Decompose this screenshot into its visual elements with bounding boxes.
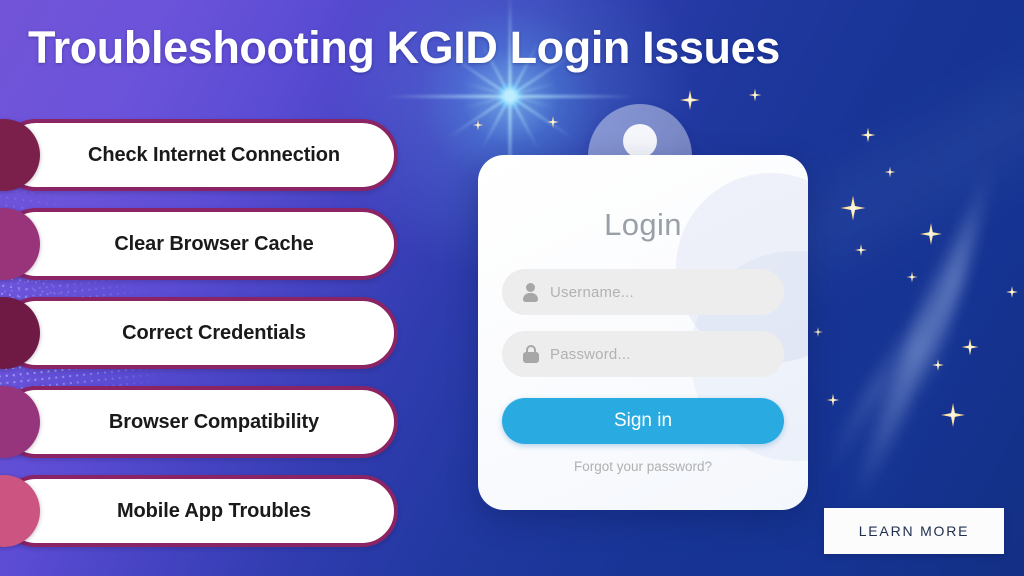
checklist-item[interactable]: Clear Browser Cache — [0, 208, 398, 280]
sparkle-icon — [885, 167, 896, 178]
sparkle-icon — [813, 327, 823, 337]
checklist-bullet-icon — [0, 297, 40, 369]
sparkle-icon — [547, 116, 559, 128]
page-title: Troubleshooting KGID Login Issues — [28, 22, 993, 74]
lock-icon — [522, 344, 540, 364]
light-streak-3 — [819, 300, 931, 480]
sparkle-icon — [907, 272, 918, 283]
username-placeholder: Username... — [550, 284, 634, 301]
flare-ray — [385, 95, 635, 98]
poster-canvas: Troubleshooting KGID Login Issues Check … — [0, 0, 1024, 576]
person-icon — [522, 282, 540, 302]
sparkle-icon — [841, 196, 866, 221]
checklist-bullet-icon — [0, 386, 40, 458]
forgot-password-link[interactable]: Forgot your password? — [502, 459, 784, 474]
checklist-item-label: Check Internet Connection — [4, 144, 394, 167]
learn-more-button[interactable]: LEARN MORE — [824, 508, 1004, 554]
checklist-item[interactable]: Browser Compatibility — [0, 386, 398, 458]
light-streak-1 — [844, 192, 992, 508]
login-heading: Login — [502, 207, 784, 243]
password-placeholder: Password... — [550, 346, 631, 363]
checklist-item[interactable]: Correct Credentials — [0, 297, 398, 369]
sparkle-icon — [920, 223, 942, 245]
sparkle-icon — [932, 359, 944, 371]
checklist-item-label: Browser Compatibility — [4, 411, 394, 434]
sparkle-icon — [855, 244, 867, 256]
checklist-item-label: Mobile App Troubles — [4, 500, 394, 523]
flare-ray — [463, 83, 556, 109]
sparkle-icon — [962, 339, 979, 356]
checklist-item-label: Correct Credentials — [4, 322, 394, 345]
avatar-head-icon — [623, 124, 657, 158]
sparkle-icon — [1006, 286, 1018, 298]
sparkle-icon — [473, 120, 484, 131]
password-field[interactable]: Password... — [502, 331, 784, 377]
sparkle-icon — [861, 128, 876, 143]
username-field[interactable]: Username... — [502, 269, 784, 315]
checklist-bullet-icon — [0, 475, 40, 547]
login-card: Login Username... Password... Sign in Fo… — [478, 155, 808, 510]
checklist-item[interactable]: Check Internet Connection — [0, 119, 398, 191]
sparkle-icon — [680, 90, 700, 110]
checklist-item[interactable]: Mobile App Troubles — [0, 475, 398, 547]
sparkle-icon — [941, 403, 965, 427]
checklist-bullet-icon — [0, 119, 40, 191]
sign-in-button[interactable]: Sign in — [502, 398, 784, 444]
checklist-bullet-icon — [0, 208, 40, 280]
sparkle-icon — [827, 394, 840, 407]
checklist-item-label: Clear Browser Cache — [4, 233, 394, 256]
light-streak-2 — [912, 153, 999, 407]
sparkle-icon — [749, 89, 762, 102]
flare-ray — [463, 83, 556, 109]
troubleshooting-checklist: Check Internet ConnectionClear Browser C… — [0, 119, 398, 564]
